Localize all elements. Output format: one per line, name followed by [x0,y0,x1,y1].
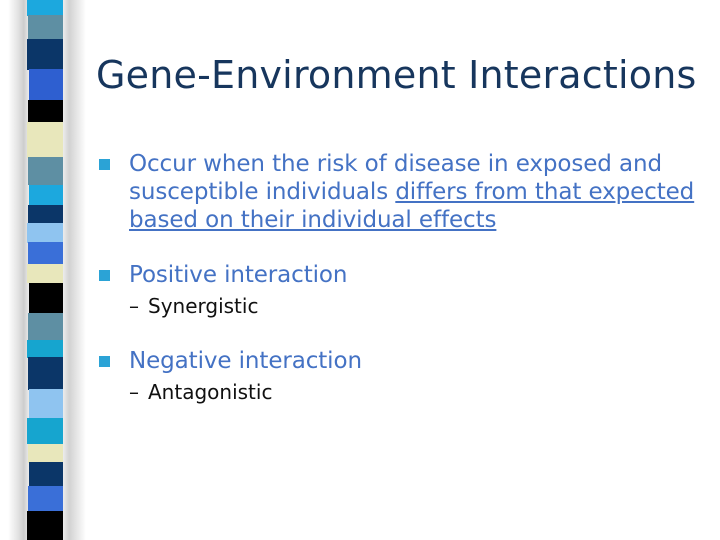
sub-bullet-row: – Antagonistic [96,379,700,405]
bullet-block-1: Occur when the risk of disease in expose… [96,150,700,234]
sub-bullet-label: Synergistic [148,294,258,318]
slide-canvas: Gene-Environment Interactions Occur when… [0,0,720,540]
left-decor-strip [0,0,90,540]
strip-band [28,486,63,512]
spacer [96,319,700,347]
sub-bullet-row: – Synergistic [96,293,700,319]
strip-band [28,444,63,463]
bullet-text-3: Negative interaction [129,348,362,374]
strip-band [28,242,63,265]
strip-band [29,389,63,418]
strip-band [27,0,63,16]
strip-band [28,357,63,390]
square-bullet-icon [99,270,110,281]
strip-band [27,418,63,444]
strip-band [27,511,63,540]
strip-band [28,100,63,123]
dash-icon: – [129,379,139,405]
strip-shadow-right [62,0,86,540]
strip-band [27,223,63,242]
strip-band [28,15,63,39]
spacer [96,234,700,261]
strip-color-bands [27,0,63,540]
bullet-row: Positive interaction [96,261,700,289]
slide-body: Occur when the risk of disease in expose… [96,150,700,405]
sub-bullet-label: Antagonistic [148,380,272,404]
bullet-row: Negative interaction [96,347,700,375]
strip-band [28,205,63,224]
strip-band [29,462,63,486]
bullet-row: Occur when the risk of disease in expose… [96,150,700,234]
square-bullet-icon [99,356,110,367]
strip-band [27,264,63,283]
strip-band [27,122,63,158]
strip-band [29,69,63,100]
strip-band [27,340,63,358]
strip-band [29,283,63,314]
strip-band [27,39,63,70]
strip-band [29,185,63,206]
dash-icon: – [129,293,139,319]
square-bullet-icon [99,159,110,170]
bullet-block-3: Negative interaction – Antagonistic [96,347,700,405]
slide-title: Gene-Environment Interactions [96,52,696,98]
bullet-text-2: Positive interaction [129,262,347,288]
bullet-text-1: Occur when the risk of disease in expose… [129,151,694,233]
strip-band [28,313,63,341]
strip-band [28,157,63,185]
bullet-block-2: Positive interaction – Synergistic [96,261,700,319]
